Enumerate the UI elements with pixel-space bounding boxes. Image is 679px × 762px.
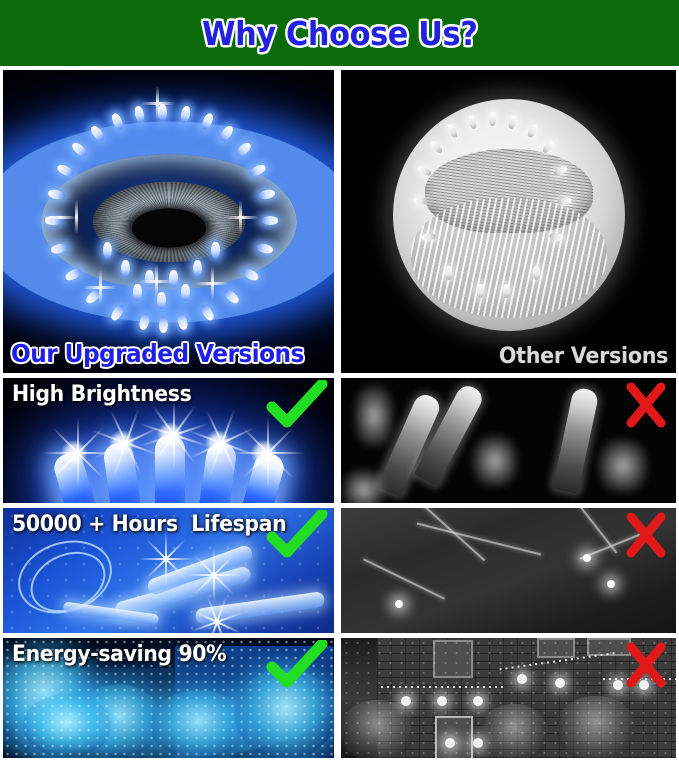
cell-other-dim-bulbs <box>341 378 676 503</box>
gray-led-ball-image <box>341 70 676 373</box>
coil-bulbs <box>3 70 334 373</box>
gray-lit-house-image <box>341 638 676 758</box>
cell-high-brightness: High Brightness <box>3 378 334 503</box>
gray-bulbs-dim-image <box>341 378 676 503</box>
comparison-grid: Our Upgraded Versions <box>0 66 679 762</box>
why-choose-us-infographic: Why Choose Us? <box>0 0 679 762</box>
header-banner: Why Choose Us? <box>0 0 679 66</box>
cell-other-dim-strand <box>341 508 676 633</box>
page-title: Why Choose Us? <box>202 14 477 53</box>
cell-other-ball: Other Versions <box>341 70 676 373</box>
blue-led-coil-image <box>3 70 334 373</box>
blue-lit-house-image <box>3 638 334 758</box>
cell-lifespan: 50000 + Hours Lifespan <box>3 508 334 633</box>
gray-strand-dim-image <box>341 508 676 633</box>
blue-strand-sparkle-image <box>3 508 334 633</box>
cell-energy-saving: Energy-saving 90% <box>3 638 334 758</box>
cell-other-gray-house <box>341 638 676 758</box>
blue-bulbs-bright-image <box>3 378 334 503</box>
cell-upgraded-coil: Our Upgraded Versions <box>3 70 334 373</box>
